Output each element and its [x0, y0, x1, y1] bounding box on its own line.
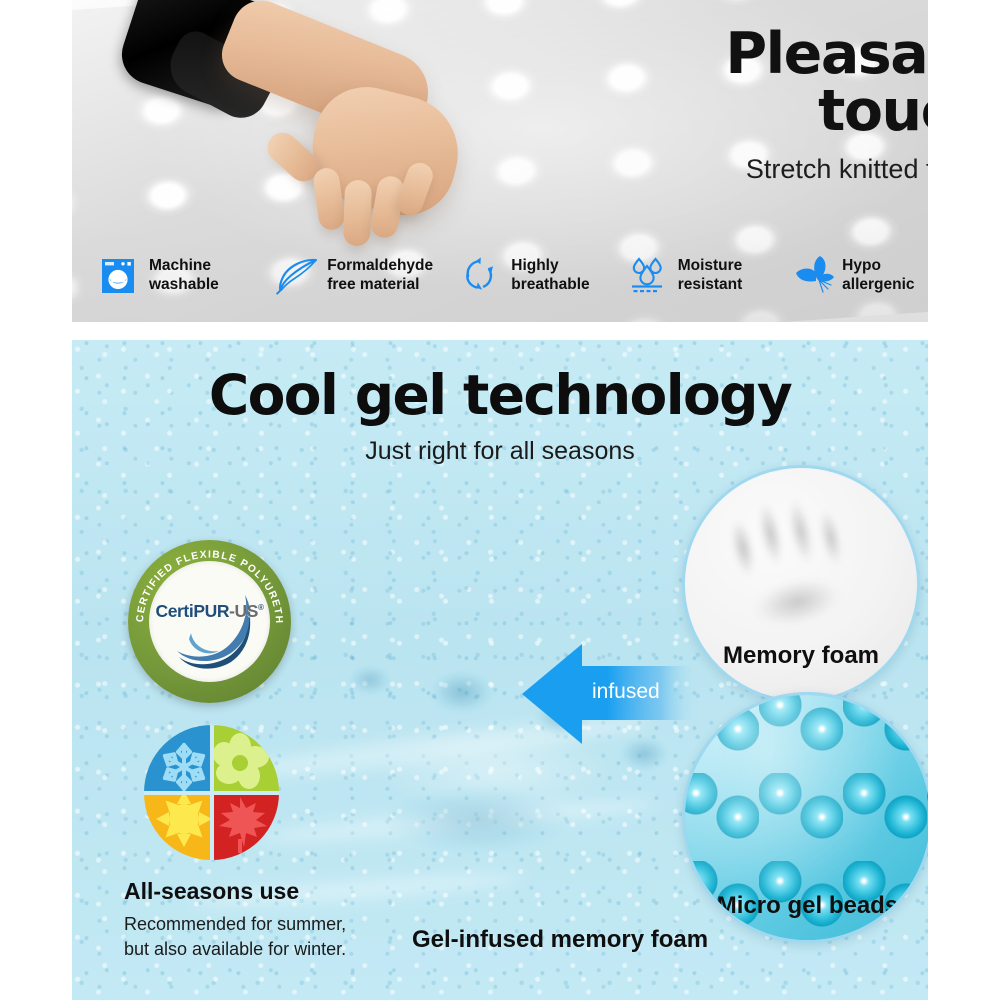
feature-label: Formaldehyde free material: [327, 257, 433, 295]
all-seasons-label: All-seasons use: [124, 878, 299, 905]
butterfly-leaves-icon: [788, 253, 834, 299]
memory-foam-label: Memory foam: [685, 642, 917, 670]
micro-gel-beads-circle: Micro gel beads: [682, 692, 928, 943]
micro-gel-beads-label: Micro gel beads: [685, 892, 928, 920]
cool-gel-technology-panel: Cool gel technology Just right for all s…: [72, 340, 928, 1000]
quadrant-summer: [144, 793, 212, 861]
feature-label: Highly breathable: [511, 257, 589, 295]
page-subtitle: Stretch knitted fabric: [572, 156, 928, 183]
registered-mark: ®: [258, 603, 264, 612]
feather-icon: [273, 253, 319, 299]
breathable-cycle-icon: [457, 253, 503, 299]
feature-icon-strip: Machine washable Formaldehyde free mater…: [95, 246, 935, 306]
infused-label: infused: [592, 680, 660, 704]
page-title: Pleasant touch: [572, 26, 928, 140]
feature-label: Machine washable: [149, 257, 219, 295]
all-seasons-wheel: [144, 725, 279, 860]
water-droplets-icon: [624, 253, 670, 299]
all-seasons-note: Recommended for summer, but also availab…: [124, 912, 346, 962]
feature-machine-washable: Machine washable: [95, 253, 273, 299]
feature-hypoallergenic: Hypo allergenic: [788, 253, 935, 299]
feature-formaldehyde-free: Formaldehyde free material: [273, 253, 457, 299]
feature-label: Hypo allergenic: [842, 257, 914, 295]
wheel-divider-horizontal: [144, 791, 279, 795]
gel-infused-memory-foam-label: Gel-infused memory foam: [412, 926, 708, 954]
bottom-heading-group: Cool gel technology Just right for all s…: [72, 368, 928, 464]
maple-leaf-icon: [212, 793, 280, 861]
badge-inner-disc: CertiPUR-US®: [149, 561, 270, 682]
quadrant-autumn: [212, 793, 280, 861]
flower-icon: [212, 725, 280, 793]
top-heading-group: Pleasant touch Stretch knitted fabric: [572, 26, 928, 183]
foam-hand-impression: [697, 471, 889, 654]
badge-brand-certi: CertiPUR: [155, 601, 229, 621]
section-subtitle: Just right for all seasons: [72, 439, 928, 464]
washing-machine-icon: [95, 253, 141, 299]
snowflake-icon: [144, 725, 212, 793]
hand-on-fabric-photo: [72, 0, 492, 250]
badge-brand-text: CertiPUR-US®: [149, 601, 270, 622]
badge-brand-us: -US: [229, 601, 258, 621]
feature-moisture-resistant: Moisture resistant: [624, 253, 788, 299]
quadrant-spring: [212, 725, 280, 793]
sun-icon: [144, 793, 212, 861]
feature-label: Moisture resistant: [678, 257, 743, 295]
feature-highly-breathable: Highly breathable: [457, 253, 623, 299]
certipur-us-badge: CONTAINS CERTIFIED FLEXIBLE POLYURETHANE…: [128, 540, 291, 703]
section-title: Cool gel technology: [72, 368, 928, 423]
quadrant-winter: [144, 725, 212, 793]
memory-foam-circle: Memory foam: [682, 465, 920, 703]
photo-edge-fade: [72, 0, 502, 262]
